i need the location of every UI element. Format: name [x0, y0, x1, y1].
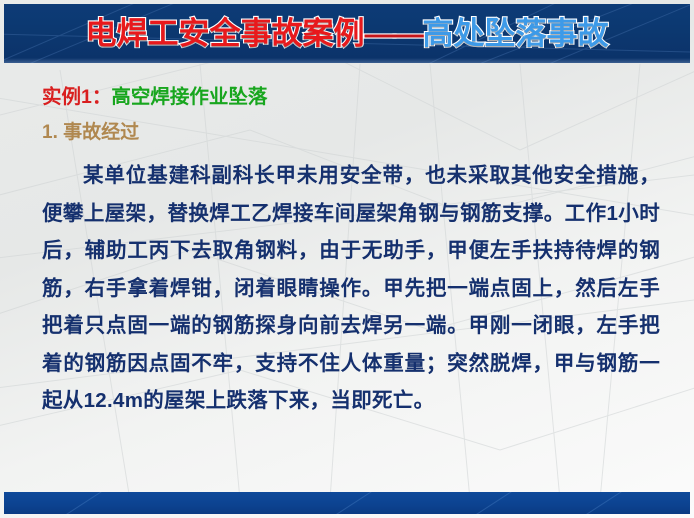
slide-footer-band [4, 492, 690, 514]
slide-body: 实例1：高空焊接作业坠落 1. 事故经过 某单位基建科副科长甲未用安全带，也未采… [4, 63, 690, 491]
footer-diagonal-lines [4, 492, 690, 514]
example-heading-topic: 高空焊接作业坠落 [111, 86, 267, 108]
accident-narrative-paragraph: 某单位基建科副科长甲未用安全带，也未采取其他安全措施，便攀上屋架，替换焊工乙焊接… [42, 157, 660, 420]
example-heading: 实例1：高空焊接作业坠落 [42, 80, 267, 109]
title-segment-dash: —— [365, 18, 423, 49]
title-segment-red: 电焊工安全事故案例 [86, 18, 365, 49]
example-heading-label: 实例1： [42, 86, 111, 108]
section-heading: 1. 事故经过 [42, 117, 139, 144]
slide-title: 电焊工安全事故案例——高处坠落事故 [4, 4, 690, 63]
slide-canvas: 电焊工安全事故案例——高处坠落事故 实例1：高空焊接作业坠落 1. 事故经过 某… [0, 0, 694, 518]
title-segment-blue: 高处坠落事故 [423, 18, 609, 49]
slide-header-band: 电焊工安全事故案例——高处坠落事故 [4, 4, 690, 63]
